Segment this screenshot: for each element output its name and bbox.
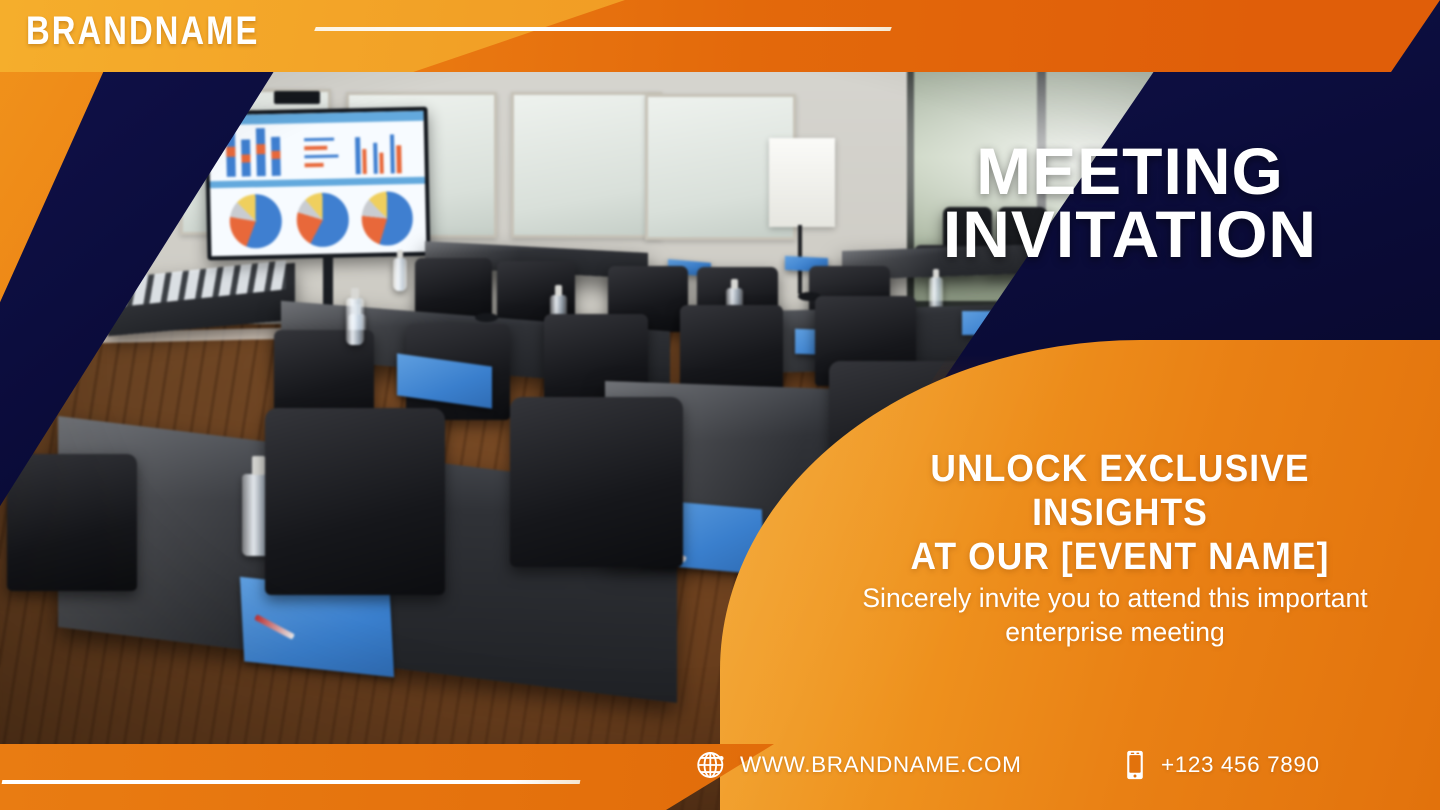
headline: UNLOCK EXCLUSIVE INSIGHTS AT OUR [EVENT … [841,447,1399,579]
screen-content [208,110,426,256]
water-bottle [393,258,407,291]
globe-icon [694,748,728,782]
pie-chart [361,191,414,246]
smartphone-icon [1118,748,1152,782]
subtitle-line-2: enterprise meeting [810,616,1420,650]
microphone [475,313,498,322]
bottom-divider-rule [2,780,581,784]
website-contact[interactable]: WWW.BRANDNAME.COM [694,748,1021,782]
phone-contact[interactable]: +123 456 7890 [1118,748,1320,782]
title-line-2: INVITATION [840,203,1420,266]
top-divider-rule [314,27,892,31]
tv-camera [274,91,320,104]
flip-chart [769,138,835,227]
subtitle-line-1: Sincerely invite you to attend this impo… [862,583,1367,613]
screen-divider-bar [210,177,425,189]
brand-logo-text: BRANDNAME [26,9,259,54]
chair-front [510,397,683,567]
chair-front [265,408,445,594]
presentation-screen [204,106,430,260]
headline-line-2: AT OUR [EVENT NAME] [841,535,1399,579]
subtitle-text: Sincerely invite you to attend this impo… [810,582,1420,650]
whiteboard [511,92,662,238]
pie-chart [229,194,282,249]
page-title: MEETING INVITATION [840,140,1420,267]
chair [415,258,493,318]
invitation-poster: BRANDNAME MEETING INVITATION UNLOCK EXCL… [0,0,1440,810]
phone-text: +123 456 7890 [1161,752,1320,778]
water-bottle [346,298,365,345]
chair-front [7,454,137,592]
pie-chart [296,192,349,247]
website-text: WWW.BRANDNAME.COM [740,752,1021,778]
chair [680,305,784,397]
headline-line-1: UNLOCK EXCLUSIVE INSIGHTS [930,448,1309,534]
